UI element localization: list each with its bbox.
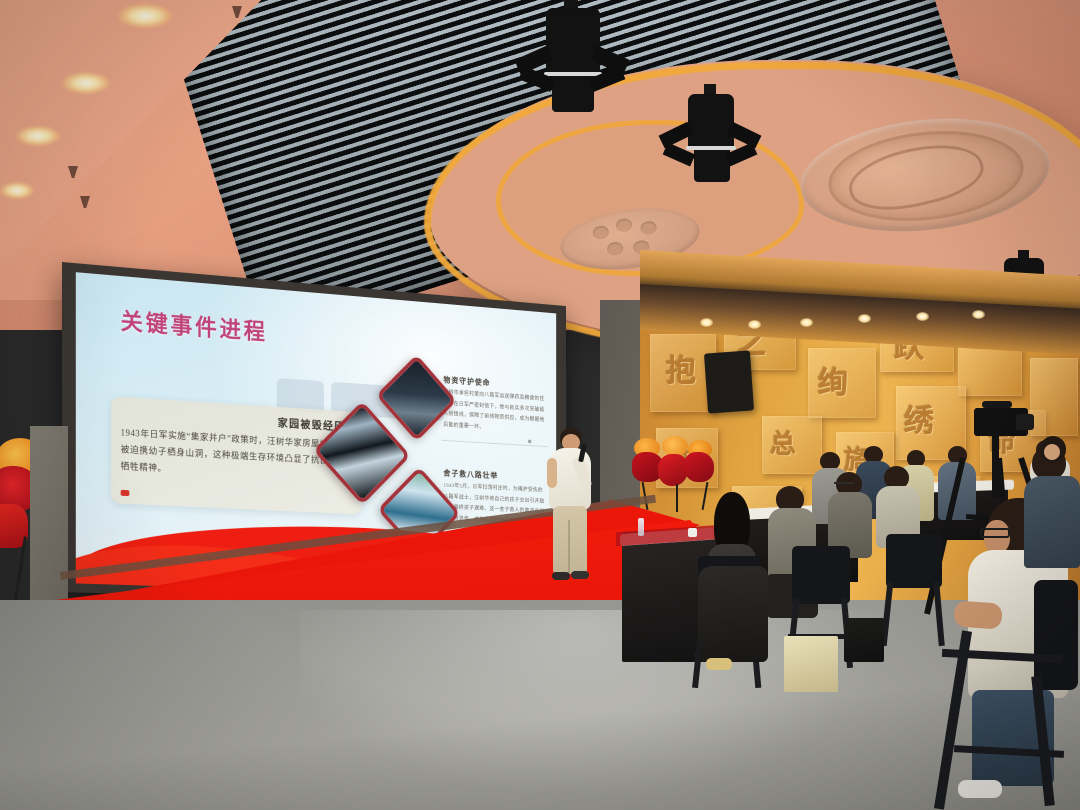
track-light	[916, 312, 929, 321]
presenter-shoe	[571, 571, 589, 579]
track-light	[700, 318, 713, 327]
stage-spotlight	[668, 84, 754, 198]
presenter-on-stage	[540, 428, 600, 588]
camera-handle	[982, 401, 1012, 408]
slide-accent-dot	[121, 490, 130, 496]
audience-member-left	[698, 566, 772, 726]
slide-title: 关键事件进程	[121, 302, 268, 347]
track-light	[748, 320, 761, 329]
track-light	[858, 314, 871, 323]
wall-character: 总	[770, 424, 796, 461]
presenter-shoe	[552, 572, 570, 580]
shopping-bag	[844, 618, 884, 662]
wall-character: 绚	[818, 358, 848, 402]
ceiling-downlight	[62, 72, 110, 94]
camera-lens-hood	[1016, 414, 1034, 430]
stage-spotlight	[524, 0, 620, 124]
ceiling-downlight	[118, 4, 172, 28]
conference-hall-photo: 抱 之 绚 总 跃 绣 地 旖 命 文 关键事件进程 家园被毁经历 1943年日…	[0, 0, 1080, 810]
ceiling-downlight	[16, 126, 60, 146]
wall-character: 抱	[666, 346, 696, 390]
audience-member	[1032, 436, 1076, 498]
paper-cup	[688, 528, 697, 537]
slide-side-body-1: 汪树华承担村里向八路军运送弹药及粮食的任务，在日军严密封锁下，他与民兵多次突破敌…	[443, 388, 544, 438]
slide-side-divider	[442, 440, 548, 447]
eyeglasses	[834, 482, 854, 488]
wall-character: 绣	[904, 396, 934, 440]
shopping-bag	[784, 636, 838, 692]
flower-stand-panel	[30, 426, 68, 612]
wall-speaker-box	[704, 350, 754, 413]
slide-side-block-1: 物资守护使命 汪树华承担村里向八路军运送弹药及粮食的任务，在日军严密封锁下，他与…	[443, 375, 544, 438]
audience-shoe	[706, 658, 732, 670]
presenter-arm	[547, 458, 557, 488]
presenter-trousers	[553, 506, 587, 574]
water-bottle	[638, 518, 644, 536]
eyeglasses	[980, 528, 1010, 538]
track-light	[800, 318, 813, 327]
folding-chair-foreground	[938, 580, 1080, 810]
track-light	[972, 310, 985, 319]
slide-side-dot	[528, 440, 531, 444]
ceiling-downlight	[0, 182, 34, 199]
